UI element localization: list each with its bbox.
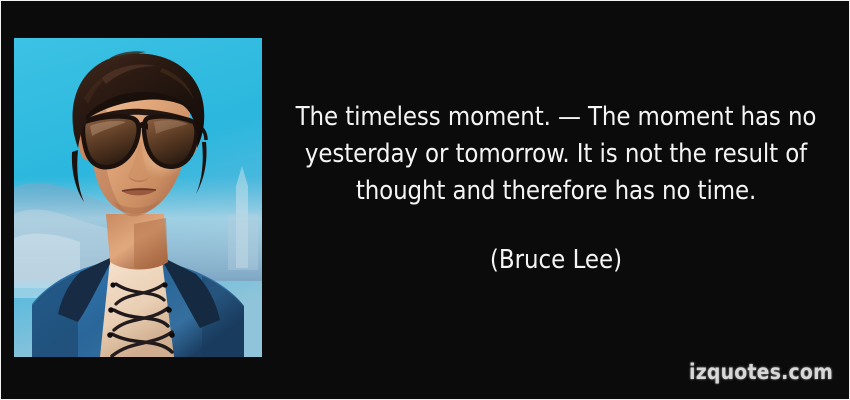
quote-image-card: The timeless moment. — The moment has no…	[0, 0, 850, 400]
quote-text: The timeless moment. — The moment has no…	[273, 99, 839, 210]
neck-shadow	[134, 218, 168, 269]
quote-line-1: The timeless moment. — The moment has no	[273, 99, 839, 136]
quote-line-3: thought and therefore has no time.	[273, 173, 839, 210]
quote-line-2: yesterday or tomorrow. It is not the res…	[273, 136, 839, 173]
site-watermark: izquotes.com	[689, 360, 833, 384]
bruce-lee-portrait-photo	[14, 38, 262, 357]
quote-attribution: (Bruce Lee)	[273, 244, 839, 276]
portrait-illustration	[14, 38, 262, 357]
background-structure-base	[228, 214, 258, 270]
